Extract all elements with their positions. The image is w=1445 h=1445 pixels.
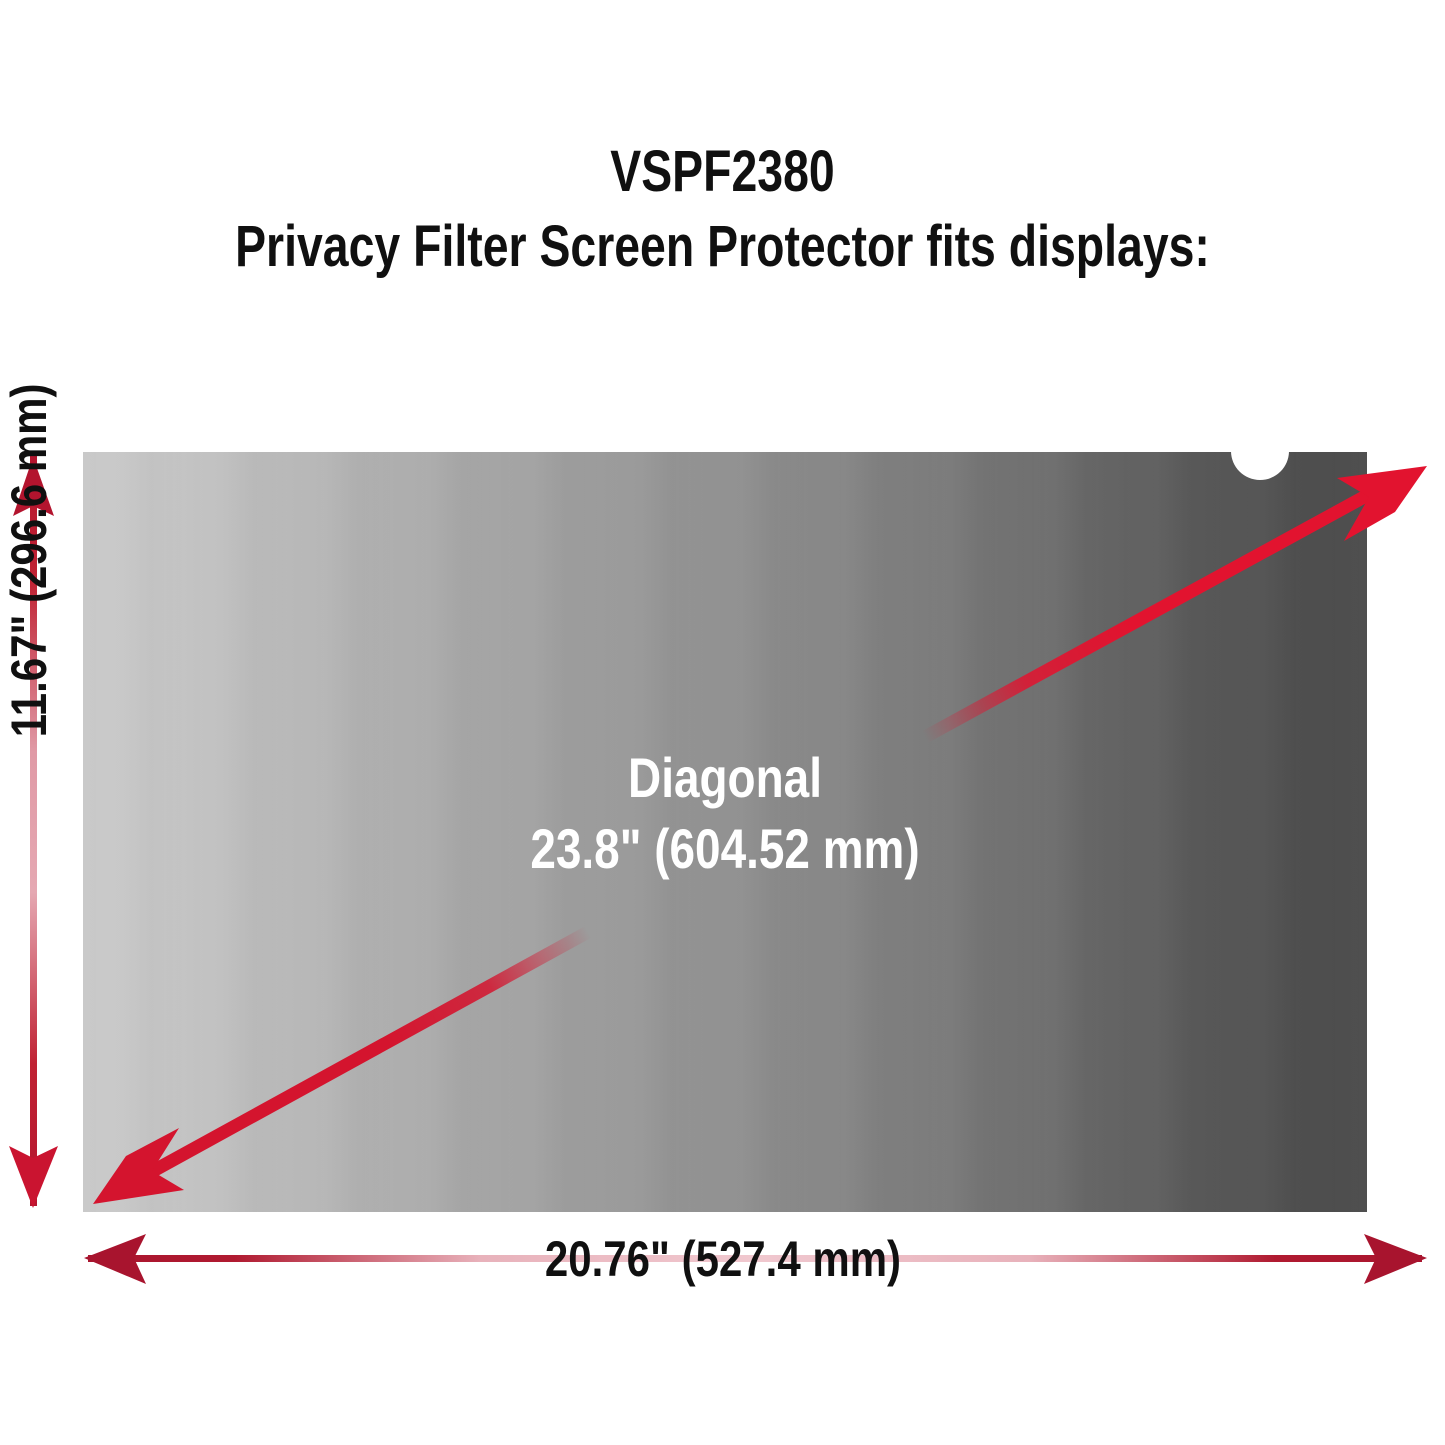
diagonal-label-value: 23.8" (604.52 mm)	[199, 816, 1252, 882]
product-sku: VSPF2380	[145, 140, 1301, 204]
height-dimension-text: 11.67" (296.6 mm)	[0, 383, 58, 737]
diagonal-label-title: Diagonal	[199, 748, 1252, 808]
camera-notch-icon	[1231, 452, 1289, 480]
title-block: VSPF2380 Privacy Filter Screen Protector…	[0, 140, 1445, 282]
height-arrowhead-down	[9, 1146, 58, 1208]
width-dimension-text: 20.76" (527.4 mm)	[544, 1228, 900, 1290]
product-tagline: Privacy Filter Screen Protector fits dis…	[145, 212, 1301, 282]
height-dimension-label: 11.67" (296.6 mm)	[0, 280, 58, 840]
diagonal-size-label: Diagonal 23.8" (604.52 mm)	[83, 748, 1367, 882]
width-dimension-label: 20.76" (527.4 mm)	[0, 1228, 1445, 1290]
